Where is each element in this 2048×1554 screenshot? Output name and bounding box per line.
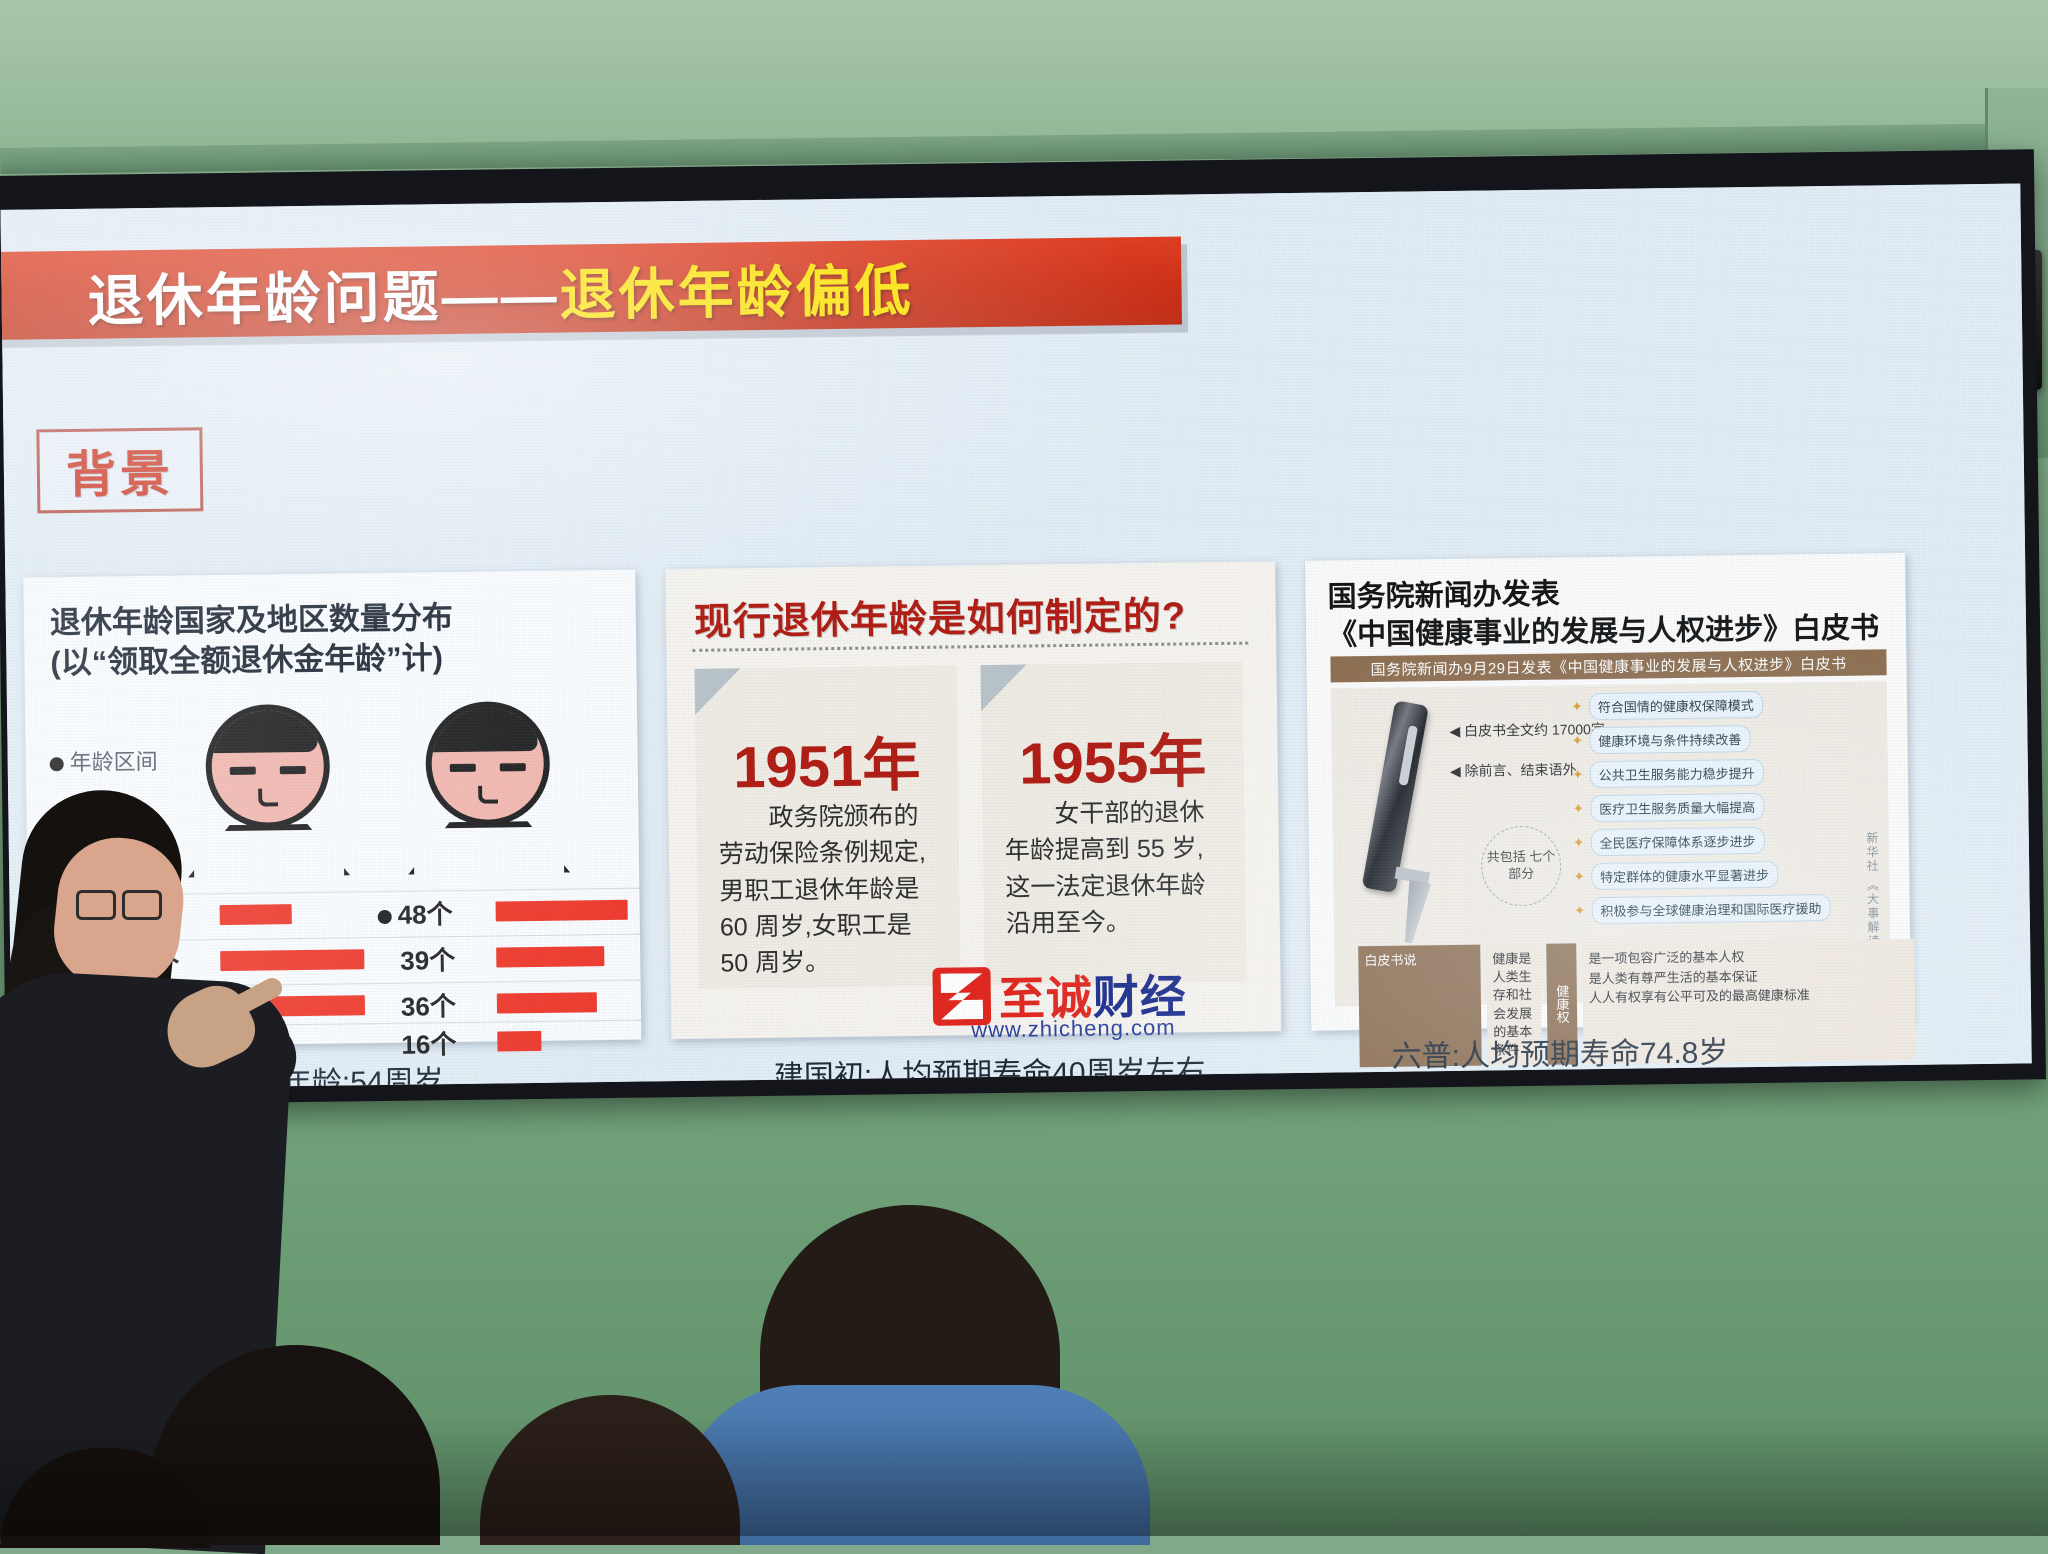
mid-card-caption: 建国初:人均预期寿命40周岁左右 [774,1046,1206,1090]
avatar-eye-left [230,767,256,775]
right-card-panel: ◀ 白皮书全文约 17000字 ◀ 除前言、结束语外 共包括 七个部分 ✦符合国… [1331,681,1891,1006]
pen-tip [1398,880,1431,945]
right-card-caption-1: 六普:人均预期寿命74.8岁 [1391,1027,1728,1075]
avatar-female-body [407,821,570,875]
list-item: ✦公共卫生服务能力稳步提升 [1572,757,1882,788]
table-row: 39个 [400,940,455,978]
year-box-1955: 1955年 女干部的退休年龄提高到 55 岁,这一法定退休年龄沿用至今。 [980,662,1246,985]
bar-female-1 [496,946,604,967]
list-item: ✦健康环境与条件持续改善 [1571,723,1881,754]
list-item: ✦全民医疗保障体系逐步进步 [1573,825,1883,856]
title-text-white: 退休年龄问题—— [87,264,560,333]
bar-female-0 [496,900,628,922]
year-text-1955: 女干部的退休年龄提高到 55 岁,这一法定退休年龄沿用至今。 [1004,794,1226,942]
mid-card-title: 现行退休年龄是如何制定的? [693,584,1186,645]
star-icon: ✦ [1572,766,1584,783]
list-item: ✦医疗卫生服务质量大幅提高 [1572,791,1882,822]
right-card-note-2: ◀ 除前言、结束语外 [1450,759,1580,781]
zhicheng-logo-url: www.zhicheng.com [971,1015,1176,1044]
left-card-title: 退休年龄国家及地区数量分布 (以“领取全额退休金年龄”计) [50,598,454,683]
presenter-glasses-icon [76,890,162,916]
avatar-male-hair [205,704,318,754]
bar-female-3 [497,1031,541,1052]
title-text-yellow: 退休年龄偏低 [559,259,914,327]
avatar-eye-left [450,764,476,772]
avatar-female-head [425,701,551,827]
star-icon: ✦ [1573,834,1585,851]
star-icon: ✦ [1573,868,1585,885]
list-item: ✦特定群体的健康水平显著进步 [1573,859,1883,890]
right-card-strip: 国务院新闻办9月29日发表《中国健康事业的发展与人权进步》白皮书 [1330,649,1886,682]
star-icon: ✦ [1572,800,1584,817]
avatar-female [425,701,570,875]
page-title: 退休年龄问题——退休年龄偏低 [87,246,914,338]
row-bullet-icon [378,910,392,924]
right-card-circle-note: 共包括 七个部分 [1481,826,1562,907]
star-icon: ✦ [1574,902,1586,919]
year-label-1955: 1955年 [981,714,1244,801]
left-card-title-line1: 退休年龄国家及地区数量分布 [50,598,453,643]
list-item: ✦积极参与全球健康治理和国际医疗援助 [1574,893,1884,924]
table-row: 36个 [401,986,456,1024]
foreground-shadow [0,1416,2048,1536]
right-card-bottom-right-line3: 人人有权享有公平可及的最高健康标准 [1589,984,1909,1008]
bar-female-2 [497,992,597,1013]
right-card-bullet-list: ✦符合国情的健康权保障模式 ✦健康环境与条件持续改善 ✦公共卫生服务能力稳步提升… [1571,689,1884,931]
year-box-1951: 1951年 政务院颁布的劳动保险条例规定,男职工退休年龄是 60 周岁,女职工是… [695,665,961,988]
folded-corner-icon [980,665,1027,712]
star-icon: ✦ [1571,698,1583,715]
axis-bullet-icon [50,757,64,771]
list-item: ✦符合国情的健康权保障模式 [1571,689,1881,720]
folded-corner-icon [695,668,742,715]
star-icon: ✦ [1571,732,1583,749]
mid-info-card: 现行退休年龄是如何制定的? 1951年 政务院颁布的劳动保险条例规定,男职工退休… [665,561,1281,1039]
pen-illustration-icon [1347,701,1446,952]
table-row: 48个 [377,894,452,932]
right-card-title: 国务院新闻办发表 《中国健康事业的发展与人权进步》白皮书 [1327,571,1879,655]
year-label-1951: 1951年 [695,717,958,804]
avatar-eye-right [280,766,306,774]
year-text-1951: 政务院颁布的劳动保险条例规定,男职工退休年龄是 60 周岁,女职工是 50 周岁… [718,798,940,982]
avatar-eye-right [500,763,526,771]
right-card-note-1: ◀ 白皮书全文约 17000字 [1449,719,1579,741]
section-badge-label: 背景 [65,434,174,507]
right-card-notes: ◀ 白皮书全文约 17000字 ◀ 除前言、结束语外 [1449,719,1580,801]
right-card-title-line2: 《中国健康事业的发展与人权进步》白皮书 [1328,610,1879,655]
pen-body [1362,700,1429,893]
right-info-card: 国务院新闻办发表 《中国健康事业的发展与人权进步》白皮书 国务院新闻办9月29日… [1305,553,1911,1031]
avatar-mouth [478,785,498,803]
left-card-title-line2: (以“领取全额退休金年龄”计) [50,638,453,683]
section-badge: 背景 [36,427,203,513]
left-card-axis-label: 年龄区间 [49,744,157,777]
